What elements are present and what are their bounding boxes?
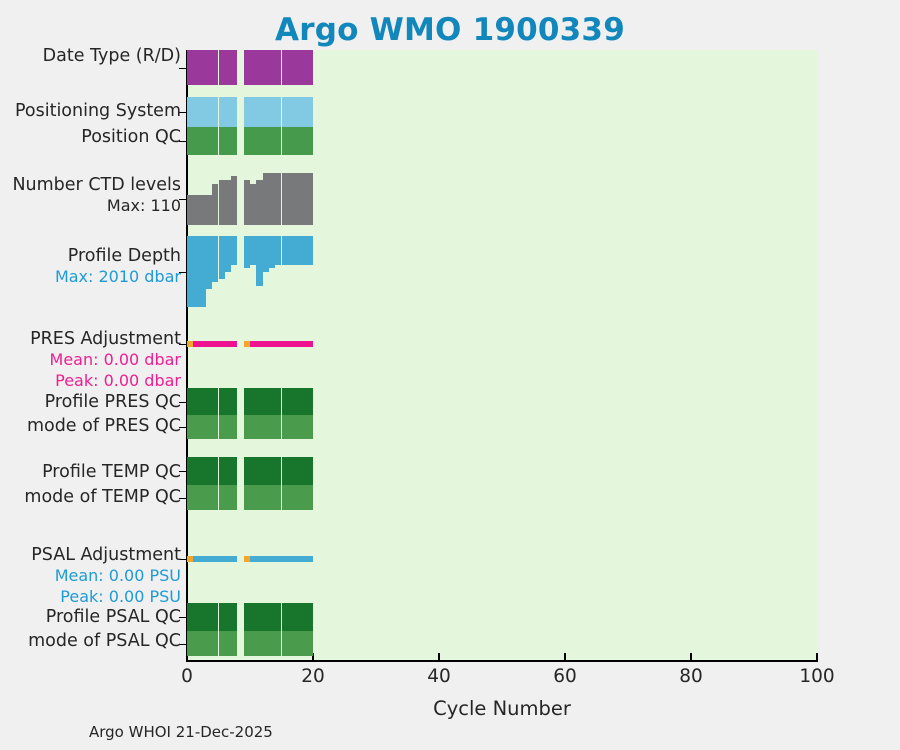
row-label-mode_psal_qc: mode of PSAL QC	[28, 633, 181, 651]
row-sublabel-ctd_levels-0: Max: 110	[107, 198, 181, 214]
bar-psal_adjustment	[193, 556, 237, 562]
row-label-positioning_system: Positioning System	[15, 103, 181, 121]
row-label-profile_temp_qc: Profile TEMP QC	[42, 464, 181, 482]
x-tick-label-40: 40	[427, 666, 451, 687]
row-label-ctd_levels: Number CTD levels	[12, 177, 181, 195]
x-tick-label-80: 80	[679, 666, 703, 687]
row-label-psal_adjustment: PSAL Adjustment	[31, 547, 181, 565]
row-label-mode_temp_qc: mode of TEMP QC	[24, 489, 181, 507]
x-tick-100	[816, 653, 817, 660]
row-sublabel-psal_adjustment-0: Mean: 0.00 PSU	[55, 568, 181, 584]
bar-mode_pres_qc	[231, 415, 237, 439]
page-title: Argo WMO 1900339	[0, 12, 900, 48]
bar-ctd_levels	[307, 173, 313, 225]
bar-psal_adjustment	[250, 556, 313, 562]
row-sublabel-pres_adjustment-0: Mean: 0.00 dbar	[50, 352, 181, 368]
bar-mode_psal_qc	[307, 631, 313, 656]
argo-float-summary-figure: Argo WMO 1900339 Cycle Number Argo WHOI …	[0, 0, 900, 750]
y-tick-date_type	[179, 68, 187, 69]
x-tick-60	[564, 653, 565, 660]
x-tick-label-100: 100	[799, 666, 834, 687]
bar-profile_depth	[307, 236, 313, 265]
bar-profile_temp_qc	[307, 457, 313, 485]
bar-mode_psal_qc	[231, 631, 237, 656]
bar-positioning_system	[307, 97, 313, 127]
bar-date_type	[231, 50, 237, 85]
bar-profile_depth	[231, 236, 237, 265]
row-label-profile_depth: Profile Depth	[68, 248, 181, 266]
row-label-profile_psal_qc: Profile PSAL QC	[46, 609, 181, 627]
row-label-profile_pres_qc: Profile PRES QC	[45, 394, 181, 412]
row-sublabel-pres_adjustment-1: Peak: 0.00 dbar	[55, 373, 181, 389]
bar-profile_psal_qc	[231, 603, 237, 631]
x-tick-label-60: 60	[553, 666, 577, 687]
x-axis-spine	[186, 660, 818, 662]
bar-position_qc	[231, 127, 237, 155]
bar-positioning_system	[231, 97, 237, 127]
row-label-mode_pres_qc: mode of PRES QC	[27, 418, 181, 436]
bar-mode_temp_qc	[307, 485, 313, 510]
row-label-date_type: Date Type (R/D)	[43, 48, 181, 66]
bar-profile_pres_qc	[231, 388, 237, 415]
bar-mode_temp_qc	[231, 485, 237, 510]
row-label-position_qc: Position QC	[81, 129, 181, 147]
x-tick-80	[690, 653, 691, 660]
bar-profile_pres_qc	[307, 388, 313, 415]
x-tick-40	[438, 653, 439, 660]
x-tick-label-0: 0	[181, 666, 193, 687]
row-sublabel-psal_adjustment-1: Peak: 0.00 PSU	[60, 589, 181, 605]
x-axis-label: Cycle Number	[187, 697, 817, 720]
row-sublabel-profile_depth-0: Max: 2010 dbar	[55, 269, 181, 285]
x-tick-label-20: 20	[301, 666, 325, 687]
bar-pres_adjustment	[250, 341, 313, 347]
bar-pres_adjustment	[193, 341, 237, 347]
bar-profile_temp_qc	[231, 457, 237, 485]
bar-profile_psal_qc	[307, 603, 313, 631]
footer-credit: Argo WHOI 21-Dec-2025	[89, 723, 273, 741]
row-label-pres_adjustment: PRES Adjustment	[30, 331, 181, 349]
bar-mode_pres_qc	[307, 415, 313, 439]
bar-ctd_levels	[231, 176, 237, 225]
bar-position_qc	[307, 127, 313, 155]
bar-date_type	[307, 50, 313, 85]
